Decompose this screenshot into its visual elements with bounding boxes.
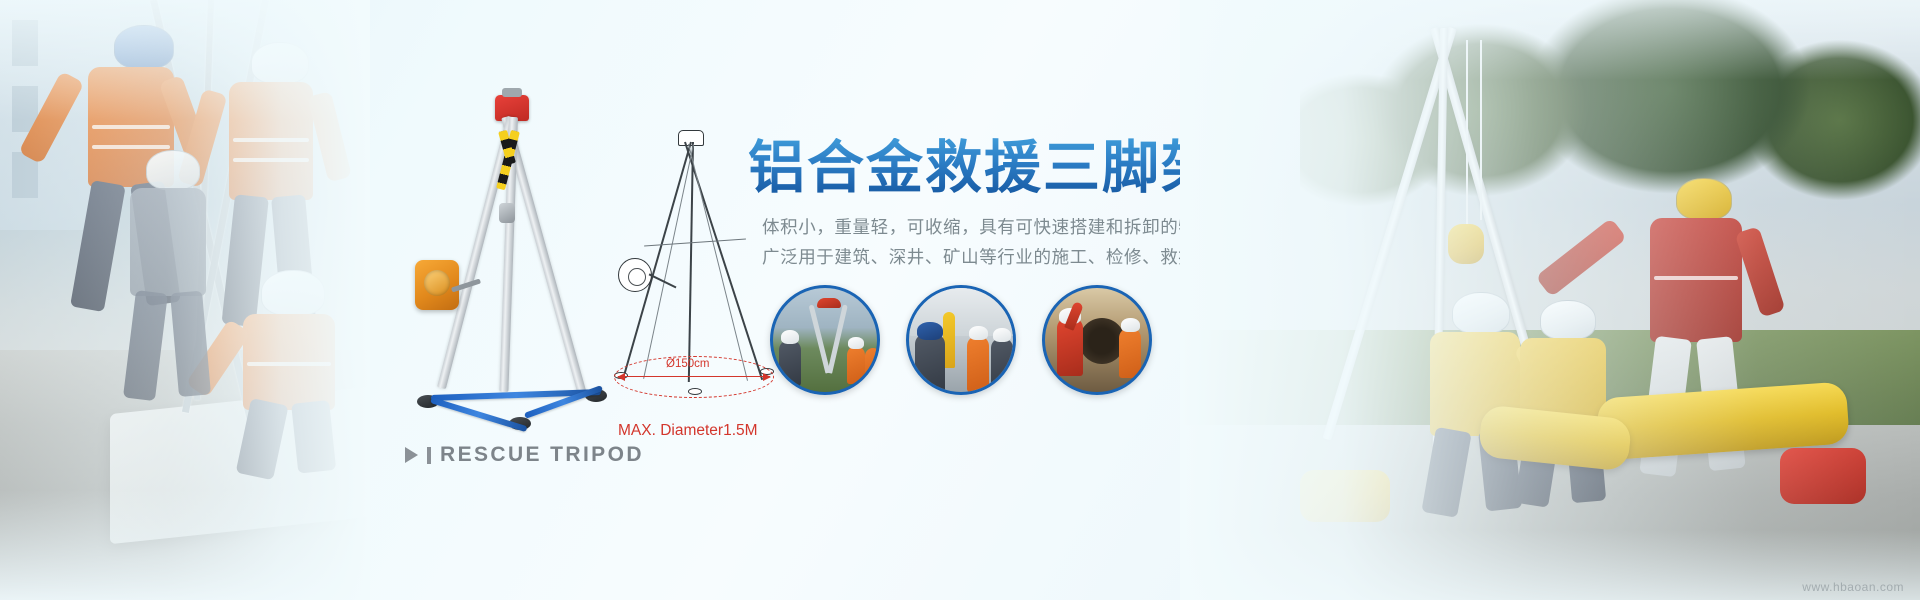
sketch-diameter-arrow (618, 376, 770, 377)
rescue-tripod-label-text: RESCUE TRIPOD (440, 443, 644, 467)
sketch-leg-inner (688, 144, 748, 381)
right-rescue-scene-photo: www.hbaoan.com (1180, 0, 1920, 600)
thumb-helmet (848, 337, 864, 349)
tripod-pulley (499, 203, 515, 223)
sketch-winch-drum (618, 258, 652, 292)
thumb-worker (779, 340, 801, 386)
product-banner: RESCUE TRIPOD Ø150cm MAX. Diameter1.5M 铝… (0, 0, 1920, 600)
subtitle-line-1: 体积小，重量轻，可收缩，具有可快速搭建和拆卸的特点 (748, 214, 1188, 242)
thumb-tripod (827, 304, 848, 373)
thumbnail-item[interactable] (770, 285, 880, 395)
tripod-winch (415, 260, 459, 310)
product-tripod-photo (395, 95, 625, 455)
thumb-tripod (809, 304, 831, 373)
page-title: 铝合金救援三脚架 (748, 138, 1188, 200)
application-photo-thumbnails (770, 285, 1152, 395)
watermark-text: www.hbaoan.com (1802, 580, 1904, 594)
tripod-base-triangle (401, 387, 619, 429)
sketch-diameter-callout: Ø150cm (666, 358, 709, 370)
thumb-worker (967, 336, 989, 392)
thumb-tripod-head (817, 298, 841, 308)
right-photo-fade-overlay (1180, 0, 1920, 600)
label-bar-icon (427, 447, 431, 464)
thumbnail-item[interactable] (1042, 285, 1152, 395)
rescue-tripod-label: RESCUE TRIPOD (405, 443, 644, 467)
play-triangle-icon (405, 447, 418, 463)
thumb-helmet (917, 322, 943, 340)
subtitle-line-2: 广泛用于建筑、深井、矿山等行业的施工、检修、救援工作 (748, 244, 1188, 272)
thumb-helmet (781, 330, 799, 344)
thumb-worker (915, 334, 945, 392)
sketch-leg (688, 142, 694, 382)
sketch-cross-brace (644, 238, 746, 246)
thumb-worker (1119, 328, 1141, 378)
thumb-helmet (1121, 318, 1140, 332)
thumb-worker (991, 338, 1013, 392)
thumb-worker (865, 348, 880, 384)
left-rescue-scene-photo (0, 0, 370, 600)
left-photo-fade-overlay (0, 0, 370, 600)
sketch-leg-inner (643, 144, 694, 379)
thumb-helmet (969, 326, 988, 340)
thumb-helmet (993, 328, 1011, 342)
banner-copy-block: 铝合金救援三脚架 体积小，重量轻，可收缩，具有可快速搭建和拆卸的特点 广泛用于建… (748, 138, 1188, 272)
thumb-worker (847, 346, 865, 384)
thumbnail-item[interactable] (906, 285, 1016, 395)
sketch-max-diameter-text: MAX. Diameter1.5M (618, 422, 758, 440)
